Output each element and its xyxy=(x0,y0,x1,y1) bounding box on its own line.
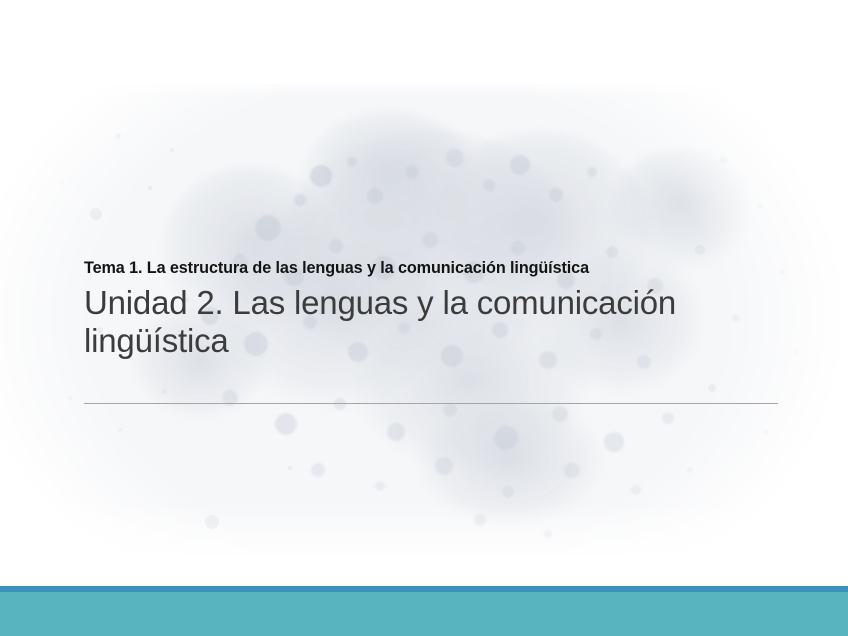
title-text-block: Tema 1. La estructura de las lenguas y l… xyxy=(84,258,784,360)
slide-subtitle: Tema 1. La estructura de las lenguas y l… xyxy=(84,258,784,278)
accent-bar-light xyxy=(0,592,848,636)
slide-canvas: Tema 1. La estructura de las lenguas y l… xyxy=(0,0,848,636)
title-divider xyxy=(84,403,778,404)
page-title: Unidad 2. Las lenguas y la comunicación … xyxy=(84,284,724,360)
